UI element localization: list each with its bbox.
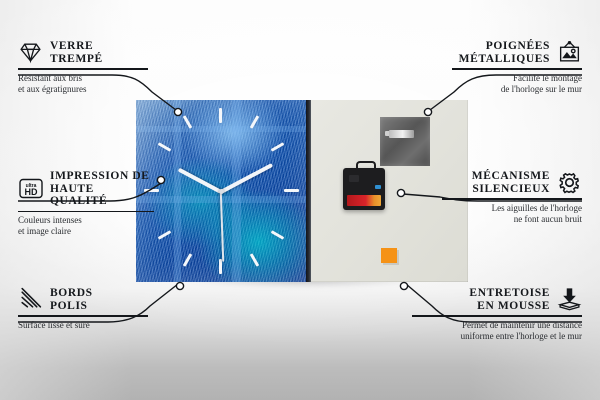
callout-desc-line2: uniforme entre l'horloge et le mur: [412, 331, 582, 342]
callout-title-line1: MÉCANISME: [472, 170, 550, 183]
gear-icon: [557, 170, 582, 195]
callout-rule: [442, 198, 582, 200]
callout-desc-line1: Résistant aux bris: [18, 73, 148, 84]
callout-desc-line1: Permet de maintenir une distance: [412, 320, 582, 331]
callout-rule: [18, 211, 154, 213]
callout-title-line1: BORDS: [50, 287, 93, 300]
callout-desc-line2: et image claire: [18, 226, 154, 237]
callout-desc-line1: Facilite le montage: [452, 73, 582, 84]
callout-desc-line2: de l'horloge sur le mur: [452, 84, 582, 95]
diamond-icon: [18, 40, 43, 65]
callout-title-line1: VERRE: [50, 40, 103, 53]
callout-rule: [18, 315, 148, 317]
callout-rule: [18, 68, 148, 70]
infographic-canvas: VERRE TREMPÉ Résistant aux bris et aux é…: [0, 0, 600, 400]
callout-title-line1: IMPRESSION DE: [50, 170, 154, 183]
callout-entretoise-en-mousse: ENTRETOISE EN MOUSSE Permet de maintenir…: [412, 287, 582, 342]
callout-rule: [452, 68, 582, 70]
wall-clock-product: [136, 100, 468, 282]
callout-title-line2: TREMPÉ: [50, 53, 103, 66]
foam-spacer: [381, 248, 397, 263]
callout-verre-trempe: VERRE TREMPÉ Résistant aux bris et aux é…: [18, 40, 148, 95]
callout-desc-line1: Couleurs intenses: [18, 215, 154, 226]
battery: [347, 195, 381, 206]
callout-mecanisme-silencieux: MÉCANISME SILENCIEUX Les aiguilles de l'…: [442, 170, 582, 225]
callout-desc-line2: et aux égratignures: [18, 84, 148, 95]
hanging-frame-icon: [557, 40, 582, 65]
callout-rule: [412, 315, 582, 317]
callout-title-line1: ENTRETOISE: [469, 287, 550, 300]
metal-hanger-plate: [380, 117, 430, 166]
callout-title-line1: POIGNÉES: [459, 40, 550, 53]
callout-desc-line1: Surface lisse et sûre: [18, 320, 148, 331]
callout-bords-polis: BORDS POLIS Surface lisse et sûre: [18, 287, 148, 331]
callout-desc-line2: ne font aucun bruit: [442, 214, 582, 225]
callout-title-line2: EN MOUSSE: [469, 300, 550, 313]
clock-movement-mechanism: [343, 168, 385, 210]
callout-title-line2: SILENCIEUX: [472, 183, 550, 196]
callout-title-line2: POLIS: [50, 300, 93, 313]
foam-spacer-arrow-icon: [557, 287, 582, 312]
diagonal-lines-icon: [18, 287, 43, 312]
callout-title-line2: MÉTALLIQUES: [459, 53, 550, 66]
callout-desc-line1: Les aiguilles de l'horloge: [442, 203, 582, 214]
callout-impression-haute-qualite: ultra HD IMPRESSION DE HAUTE QUALITÉ Cou…: [18, 170, 154, 237]
ultra-hd-icon: ultra HD: [18, 176, 43, 201]
clock-glass-face: [136, 100, 306, 282]
callout-title-line2: HAUTE QUALITÉ: [50, 183, 154, 208]
callout-poignees-metalliques: POIGNÉES MÉTALLIQUES Facilite le montage…: [452, 40, 582, 95]
svg-text:HD: HD: [25, 187, 38, 197]
